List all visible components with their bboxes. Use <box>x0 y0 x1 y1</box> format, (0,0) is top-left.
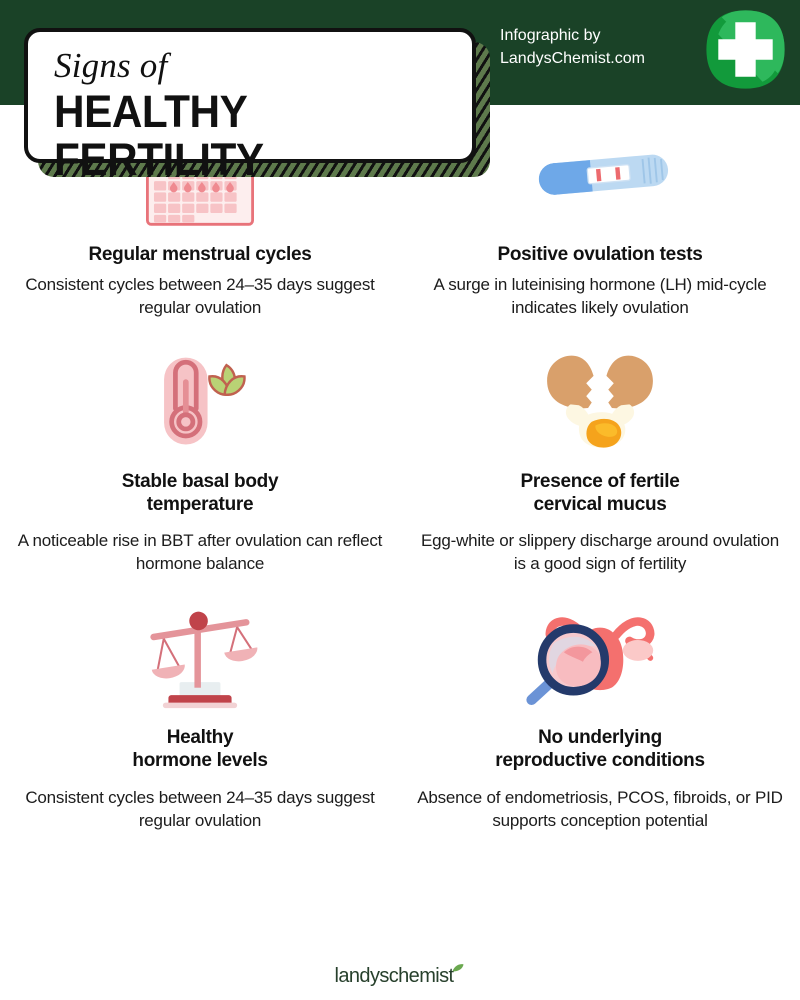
card-title: Positive ovulation tests <box>497 243 702 266</box>
eggshell-left <box>547 355 593 408</box>
leaf-icon <box>451 961 465 979</box>
card-title: Stable basal body temperature <box>122 470 278 516</box>
card-title: No underlying reproductive conditions <box>495 726 705 772</box>
footer-brand-text: landyschemist <box>335 965 454 988</box>
card-body: Consistent cycles between 24–35 days sug… <box>14 787 386 833</box>
uterus-magnifier-icon <box>505 598 695 718</box>
card-no-underlying-reproductive-conditions: No underlying reproductive conditions Ab… <box>400 598 800 832</box>
leaf-cluster <box>209 365 244 395</box>
ovulation-test-stick-icon <box>512 115 688 235</box>
card-stable-basal-body-temperature: Stable basal body temperature A noticeab… <box>0 342 400 576</box>
card-title: Healthy hormone levels <box>132 726 267 772</box>
magnifier <box>532 629 605 700</box>
medical-cross-logo <box>703 7 788 92</box>
eggshell-right <box>606 355 652 408</box>
card-title: Regular menstrual cycles <box>88 243 311 266</box>
balance-scale-icon <box>135 598 265 718</box>
credit-attribution: Infographic by LandysChemist.com <box>500 24 645 70</box>
card-body: Consistent cycles between 24–35 days sug… <box>14 274 386 320</box>
page-title-script: Signs of <box>54 46 446 86</box>
credit-line-2: LandysChemist.com <box>500 47 645 70</box>
cards-grid: MONTH <box>0 105 800 832</box>
card-body: A noticeable rise in BBT after ovulation… <box>14 530 386 576</box>
page-title-bold: HEALTHY FERTILITY <box>54 88 422 183</box>
card-body: Absence of endometriosis, PCOS, fibroids… <box>414 787 786 833</box>
thermometer-leaf-icon <box>143 342 257 462</box>
cards-row-3: Healthy hormone levels Consistent cycles… <box>0 598 800 832</box>
cards-row-2: Stable basal body temperature A noticeab… <box>0 342 800 576</box>
card-body: A surge in luteinising hormone (LH) mid-… <box>414 274 786 320</box>
card-presence-of-fertile-cervical-mucus: Presence of fertile cervical mucus Egg-w… <box>400 342 800 576</box>
card-healthy-hormone-levels: Healthy hormone levels Consistent cycles… <box>0 598 400 832</box>
credit-line-1: Infographic by <box>500 24 645 47</box>
cracked-egg-icon <box>531 342 669 462</box>
footer-brand: landyschemist <box>0 961 800 988</box>
card-title: Presence of fertile cervical mucus <box>520 470 679 516</box>
card-body: Egg-white or slippery discharge around o… <box>414 530 786 576</box>
title-card: Signs of HEALTHY FERTILITY <box>24 28 476 163</box>
